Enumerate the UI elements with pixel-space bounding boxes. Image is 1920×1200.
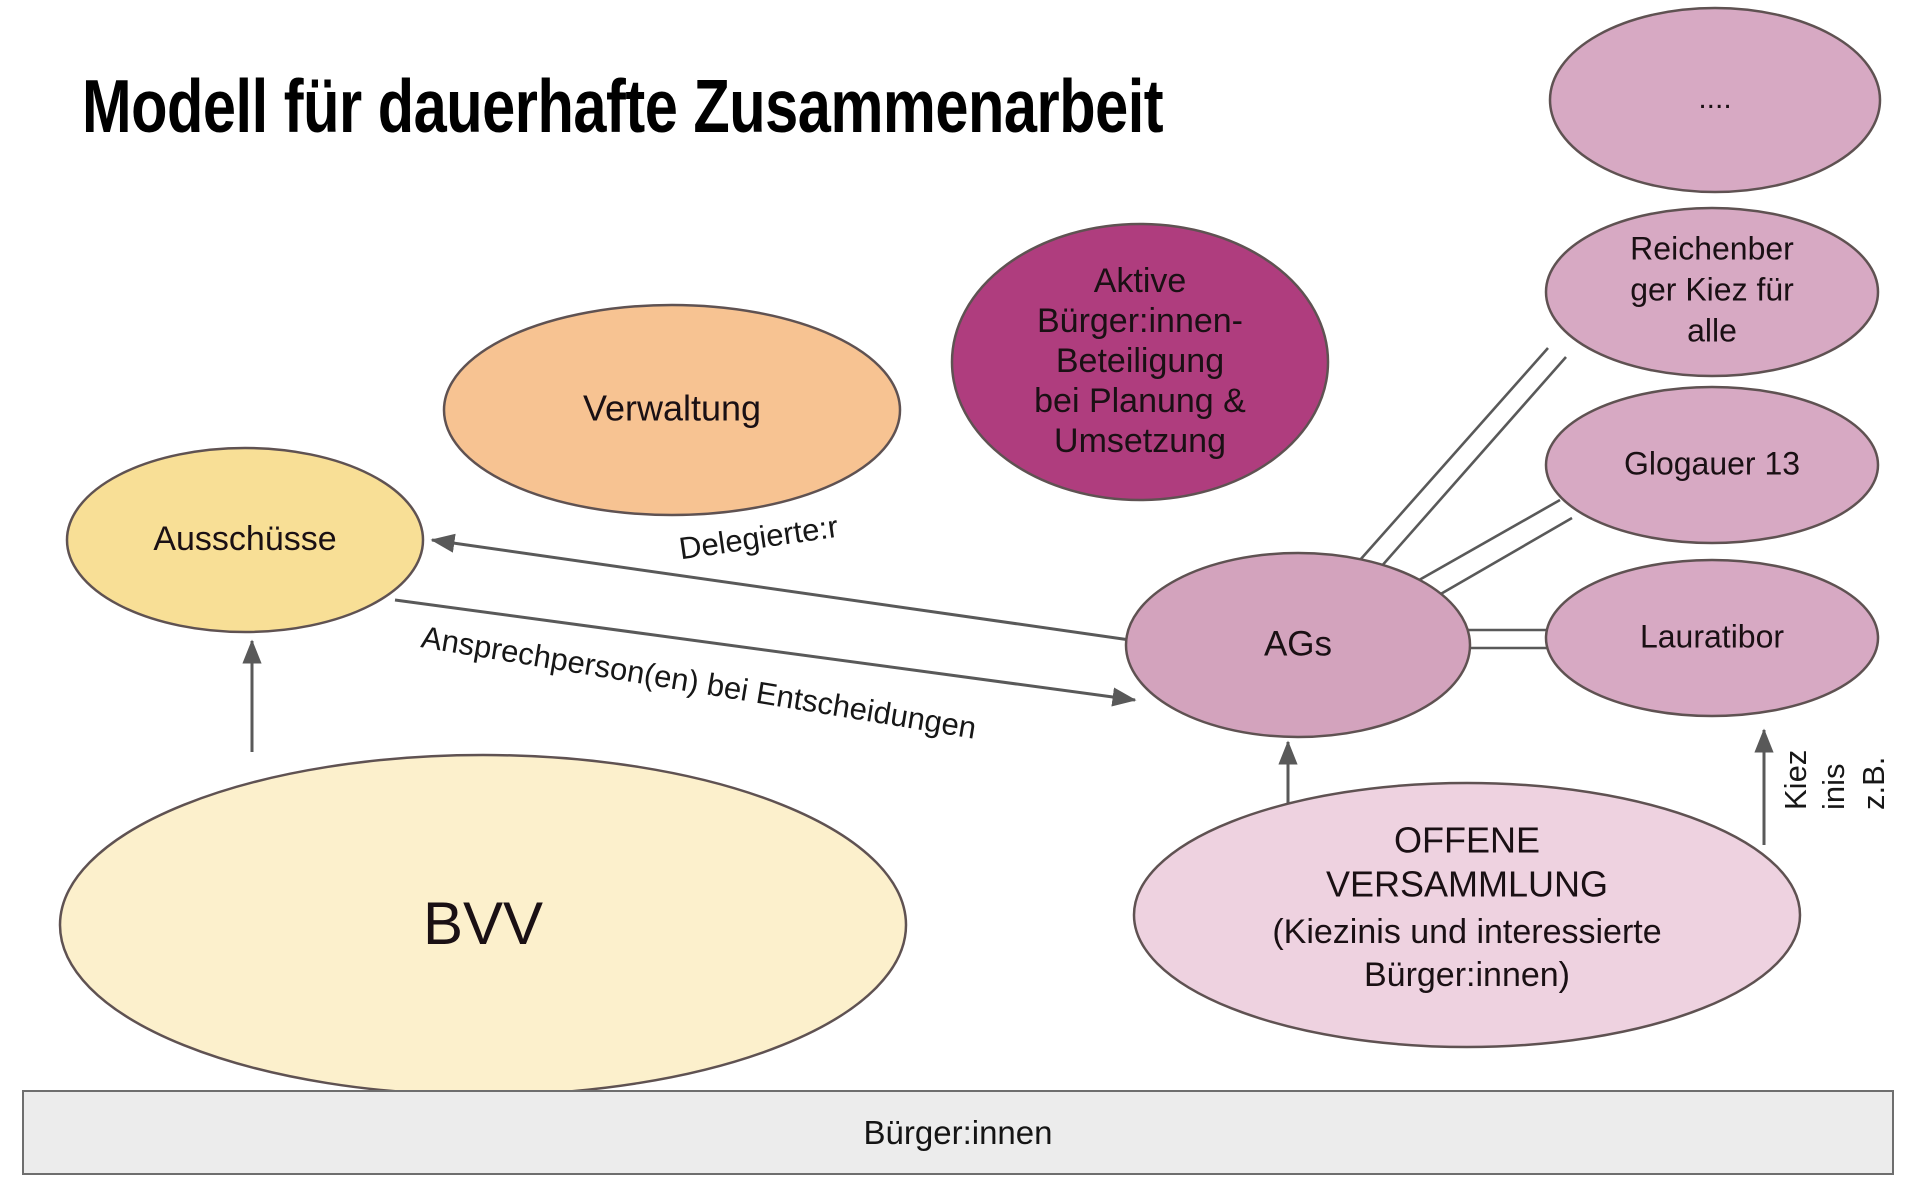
node-more-label: .... [1698, 82, 1731, 115]
node-lauratibor[interactable]: Lauratibor [1546, 560, 1878, 716]
node-reichenberger-kiez[interactable]: Reichenber ger Kiez für alle [1546, 208, 1878, 376]
node-glogauer-13[interactable]: Glogauer 13 [1546, 387, 1878, 543]
node-more[interactable]: .... [1550, 8, 1880, 192]
edge-label-ansprechperson: Ansprechperson(en) bei Entscheidungen [419, 619, 979, 745]
edge-label-ansprechperson-text: Ansprechperson(en) bei Entscheidungen [419, 619, 979, 745]
node-reichenberger-label: Reichenber [1630, 230, 1794, 266]
node-ausschuesse-label: Ausschüsse [153, 520, 336, 558]
node-bvv-label: BVV [423, 890, 543, 957]
page-title: Modell für dauerhafte Zusammenarbeit [82, 64, 1163, 148]
connector-ags-reichenberger [1360, 348, 1566, 568]
node-aktive-buergerbeteiligung[interactable]: Aktive Bürger:innen- Beteiligung bei Pla… [952, 224, 1328, 500]
node-offene-label-4: Bürger:innen) [1364, 956, 1570, 994]
node-ags-label: AGs [1264, 624, 1332, 663]
node-reichenberger-label-3: alle [1687, 312, 1737, 348]
diagram-svg: .... Reichenber ger Kiez für alle Glogau… [0, 0, 1920, 1200]
node-offene-versammlung[interactable]: OFFENE VERSAMMLUNG (Kiezinis und interes… [1134, 783, 1800, 1047]
edge-label-delegierte-text: Delegierte:r [677, 509, 841, 566]
edge-label-kiezinis-line-2: inis [1816, 763, 1851, 810]
node-glogauer-label: Glogauer 13 [1624, 445, 1800, 481]
diagram-canvas: .... Reichenber ger Kiez für alle Glogau… [0, 0, 1920, 1200]
footer-bar: Bürger:innen [22, 1090, 1894, 1175]
edge-label-kiezinis-line-1: Kiez [1778, 750, 1813, 810]
node-ausschuesse[interactable]: Ausschüsse [67, 448, 423, 632]
node-aktive-label-3: Beteiligung [1056, 342, 1224, 380]
edge-label-kiezinis-line-3: z.B. [1856, 757, 1891, 810]
node-lauratibor-label: Lauratibor [1640, 618, 1784, 654]
node-offene-label-1: OFFENE [1394, 820, 1540, 861]
node-ags[interactable]: AGs [1126, 553, 1470, 737]
node-verwaltung[interactable]: Verwaltung [444, 305, 900, 515]
connector-ags-lauratibor [1468, 630, 1548, 648]
node-verwaltung-label: Verwaltung [583, 388, 761, 429]
node-aktive-label-4: bei Planung & [1034, 382, 1246, 420]
node-aktive-label-1: Aktive [1094, 262, 1187, 300]
footer-label: Bürger:innen [864, 1114, 1053, 1152]
node-aktive-label-5: Umsetzung [1054, 422, 1226, 460]
node-reichenberger-label-2: ger Kiez für [1630, 271, 1794, 307]
node-bvv[interactable]: BVV [60, 755, 906, 1095]
node-offene-label-2: VERSAMMLUNG [1326, 864, 1608, 905]
edge-label-delegierte: Delegierte:r [677, 509, 841, 566]
node-offene-label-3: (Kiezinis und interessierte [1272, 913, 1661, 951]
edge-ags-to-ausschuesse [432, 540, 1130, 640]
edge-label-kiezinis: Kiez inis z.B. [1778, 750, 1891, 810]
node-aktive-label-2: Bürger:innen- [1037, 302, 1243, 340]
